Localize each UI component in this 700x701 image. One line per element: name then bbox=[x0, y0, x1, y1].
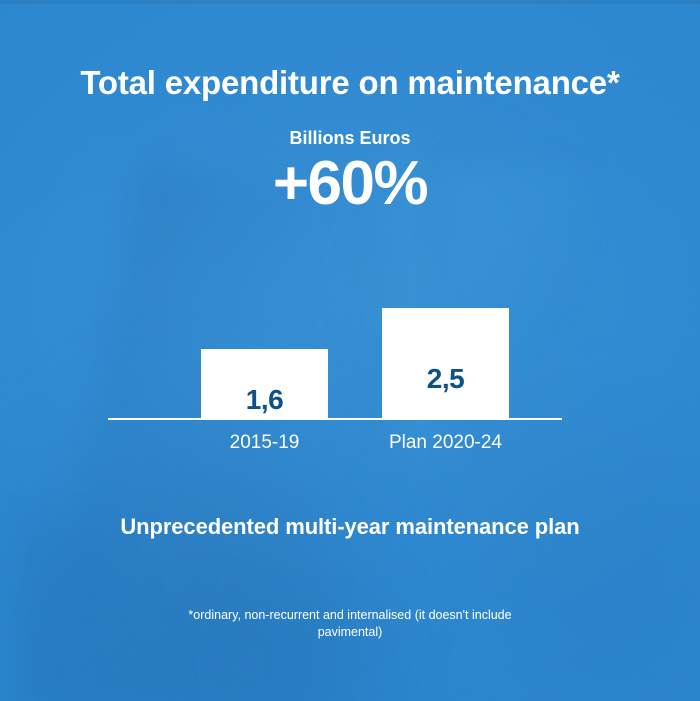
category-label-plan-2020-24: Plan 2020-24 bbox=[382, 430, 509, 456]
footnote-text: *ordinary, non-recurrent and internalise… bbox=[160, 607, 540, 641]
page-title: Total expenditure on maintenance* bbox=[0, 63, 700, 103]
bar-plan-2020-24: 2,5 bbox=[382, 308, 509, 418]
infographic-content: Total expenditure on maintenance* Billio… bbox=[0, 0, 700, 701]
chart-baseline-axis bbox=[108, 418, 562, 420]
caption-text: Unprecedented multi-year maintenance pla… bbox=[100, 511, 600, 542]
headline-percent: +60% bbox=[0, 147, 700, 221]
bar-chart: 1,6 2,5 2015-19 Plan 2020-24 bbox=[0, 280, 700, 470]
chart-plot-area: 1,6 2,5 bbox=[108, 280, 562, 418]
unit-label: Billions Euros bbox=[0, 127, 700, 149]
category-label-2015-19: 2015-19 bbox=[201, 430, 328, 456]
bar-value-label: 2,5 bbox=[427, 364, 464, 394]
category-labels: 2015-19 Plan 2020-24 bbox=[108, 430, 562, 460]
bar-value-label: 1,6 bbox=[246, 385, 283, 415]
infographic-canvas: Total expenditure on maintenance* Billio… bbox=[0, 0, 700, 701]
bar-2015-19: 1,6 bbox=[201, 349, 328, 418]
